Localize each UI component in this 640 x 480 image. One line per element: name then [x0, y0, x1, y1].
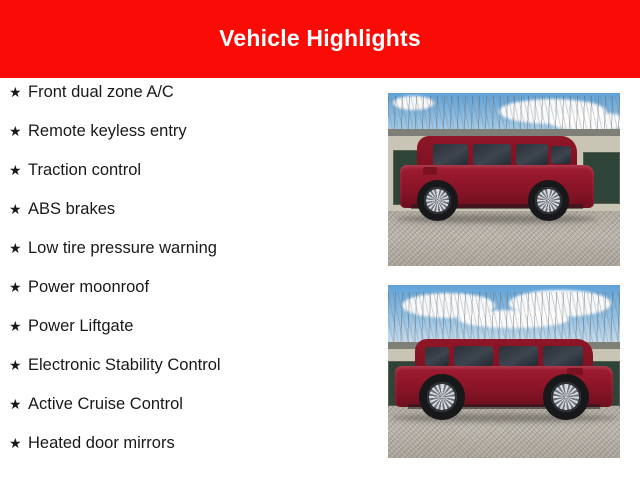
wheel: [419, 374, 465, 420]
feature-label: Power moonroof: [28, 279, 149, 296]
header-banner: Vehicle Highlights: [0, 0, 640, 78]
vehicle: [395, 340, 613, 420]
star-icon: ★: [9, 436, 28, 450]
feature-label: Electronic Stability Control: [28, 357, 221, 374]
list-item: ★ Traction control: [0, 162, 388, 201]
wheel: [417, 180, 458, 221]
wheel: [528, 180, 569, 221]
feature-label: Remote keyless entry: [28, 123, 187, 140]
side-mirror: [423, 167, 437, 174]
page-title: Vehicle Highlights: [219, 27, 421, 52]
vehicle-photo-driver-side[interactable]: [388, 93, 620, 266]
star-icon: ★: [9, 202, 28, 216]
star-icon: ★: [9, 319, 28, 333]
feature-label: Heated door mirrors: [28, 435, 175, 452]
feature-label: ABS brakes: [28, 201, 115, 218]
list-item: ★ Power Liftgate: [0, 318, 388, 357]
list-item: ★ Heated door mirrors: [0, 435, 388, 474]
photos-column: [388, 78, 640, 477]
star-icon: ★: [9, 280, 28, 294]
bare-trees: [388, 292, 620, 344]
star-icon: ★: [9, 124, 28, 138]
vehicle-highlights-page: Vehicle Highlights ★ Front dual zone A/C…: [0, 0, 640, 480]
list-item: ★ ABS brakes: [0, 201, 388, 240]
list-item: ★ Front dual zone A/C: [0, 84, 388, 123]
star-icon: ★: [9, 358, 28, 372]
list-item: ★ Power moonroof: [0, 279, 388, 318]
feature-list: ★ Front dual zone A/C ★ Remote keyless e…: [0, 84, 388, 474]
feature-label: Front dual zone A/C: [28, 84, 174, 101]
content-area: ★ Front dual zone A/C ★ Remote keyless e…: [0, 78, 640, 480]
star-icon: ★: [9, 163, 28, 177]
star-icon: ★: [9, 85, 28, 99]
feature-label: Traction control: [28, 162, 141, 179]
wheel: [543, 374, 589, 420]
star-icon: ★: [9, 241, 28, 255]
vehicle: [400, 138, 595, 221]
features-column: ★ Front dual zone A/C ★ Remote keyless e…: [0, 78, 388, 474]
star-icon: ★: [9, 397, 28, 411]
feature-label: Power Liftgate: [28, 318, 133, 335]
feature-label: Active Cruise Control: [28, 396, 183, 413]
list-item: ★ Electronic Stability Control: [0, 357, 388, 396]
list-item: ★ Low tire pressure warning: [0, 240, 388, 279]
list-item: ★ Active Cruise Control: [0, 396, 388, 435]
feature-label: Low tire pressure warning: [28, 240, 217, 257]
vehicle-photo-passenger-side[interactable]: [388, 285, 620, 458]
list-item: ★ Remote keyless entry: [0, 123, 388, 162]
